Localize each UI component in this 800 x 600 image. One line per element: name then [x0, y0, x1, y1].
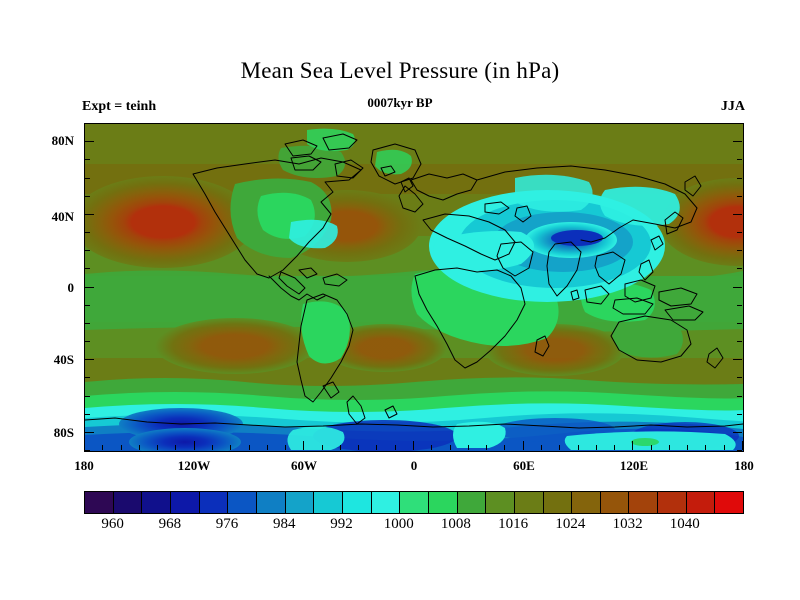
y-tick	[737, 377, 742, 378]
y-tick	[737, 232, 742, 233]
y-tick	[737, 396, 742, 397]
x-tick	[651, 445, 652, 450]
y-tick	[85, 250, 90, 251]
y-tick	[733, 432, 742, 433]
colorbar-tick-label: 968	[140, 516, 200, 533]
x-tick	[157, 445, 158, 450]
x-tick	[303, 441, 304, 450]
colorbar-swatch	[515, 492, 544, 513]
colorbar-tick-label: 1024	[540, 516, 600, 533]
experiment-label: Expt = teinh	[82, 99, 156, 115]
x-tick	[596, 445, 597, 450]
x-tick	[194, 441, 195, 450]
y-tick	[85, 396, 90, 397]
x-tick	[578, 445, 579, 450]
colorbar-tick-label: 984	[254, 516, 314, 533]
y-tick	[85, 196, 90, 197]
y-tick	[85, 178, 90, 179]
colorbar-tick-label: 1040	[655, 516, 715, 533]
x-tick	[121, 445, 122, 450]
y-tick	[733, 214, 742, 215]
x-tick	[523, 441, 524, 450]
colorbar-tick-label: 960	[83, 516, 143, 533]
y-tick	[85, 214, 94, 215]
x-tick	[468, 445, 469, 450]
colorbar-tick-label: 1008	[426, 516, 486, 533]
x-tick	[413, 441, 414, 450]
colorbar-swatch	[658, 492, 687, 513]
figure-canvas: Mean Sea Level Pressure (in hPa) 0007kyr…	[0, 0, 800, 600]
colorbar-swatch	[142, 492, 171, 513]
x-tick	[450, 445, 451, 450]
y-tick	[737, 268, 742, 269]
x-tick-label-180w: 180	[49, 458, 119, 474]
y-tick	[737, 250, 742, 251]
colorbar-swatch	[458, 492, 487, 513]
x-tick	[669, 445, 670, 450]
y-tick	[733, 141, 742, 142]
colorbar-swatch	[544, 492, 573, 513]
y-tick	[85, 432, 94, 433]
y-tick	[737, 341, 742, 342]
y-tick	[85, 359, 94, 360]
x-tick-label-120e: 120E	[599, 458, 669, 474]
colorbar-swatch	[372, 492, 401, 513]
y-tick-label-40n: 40N	[28, 209, 74, 225]
x-tick-label-0: 0	[379, 458, 449, 474]
y-tick	[737, 414, 742, 415]
y-tick	[737, 159, 742, 160]
colorbar-swatch	[629, 492, 658, 513]
colorbar-swatch	[200, 492, 229, 513]
y-tick	[85, 323, 90, 324]
y-tick	[737, 305, 742, 306]
colorbar-swatch	[572, 492, 601, 513]
x-tick-label-60e: 60E	[489, 458, 559, 474]
x-tick	[249, 445, 250, 450]
y-tick-label-0: 0	[28, 280, 74, 296]
x-tick	[139, 445, 140, 450]
x-tick	[175, 445, 176, 450]
x-tick	[504, 445, 505, 450]
x-tick	[705, 445, 706, 450]
colorbar-swatch	[314, 492, 343, 513]
colorbar-swatch	[715, 492, 743, 513]
mslp-contour-map	[85, 124, 743, 451]
y-tick-label-80n: 80N	[28, 133, 74, 149]
colorbar-swatch	[601, 492, 630, 513]
x-tick-label-180e: 180	[709, 458, 779, 474]
colorbar-swatch	[257, 492, 286, 513]
x-tick	[102, 445, 103, 450]
y-tick	[85, 414, 90, 415]
y-tick	[737, 450, 742, 451]
x-tick	[212, 445, 213, 450]
y-tick	[85, 141, 94, 142]
x-tick	[358, 445, 359, 450]
y-tick	[85, 341, 90, 342]
y-tick-label-80s: 80S	[28, 425, 74, 441]
y-tick	[85, 305, 90, 306]
y-tick	[733, 359, 742, 360]
x-tick	[632, 441, 633, 450]
x-tick	[285, 445, 286, 450]
x-tick	[376, 445, 377, 450]
season-label: JJA	[721, 99, 745, 115]
y-tick	[737, 323, 742, 324]
y-tick	[737, 123, 742, 124]
colorbar-swatch	[429, 492, 458, 513]
colorbar-swatch	[228, 492, 257, 513]
x-tick	[541, 445, 542, 450]
colorbar-swatch	[171, 492, 200, 513]
y-tick	[733, 287, 742, 288]
y-tick	[85, 268, 90, 269]
colorbar-swatch	[85, 492, 114, 513]
colorbar-tick-label: 976	[197, 516, 257, 533]
colorbar-swatch	[114, 492, 143, 513]
x-tick	[230, 445, 231, 450]
colorbar-tick-label: 1000	[369, 516, 429, 533]
y-tick	[85, 159, 90, 160]
y-tick	[85, 287, 94, 288]
x-tick	[395, 445, 396, 450]
colorbar-swatch	[286, 492, 315, 513]
x-tick	[84, 441, 85, 450]
x-tick	[724, 445, 725, 450]
colorbar-swatch	[486, 492, 515, 513]
x-tick	[559, 445, 560, 450]
x-tick	[687, 445, 688, 450]
y-tick-label-40s: 40S	[28, 352, 74, 368]
x-tick	[486, 445, 487, 450]
x-tick-label-60w: 60W	[269, 458, 339, 474]
x-tick	[614, 445, 615, 450]
colorbar	[84, 491, 744, 514]
colorbar-swatch	[343, 492, 372, 513]
x-tick	[267, 445, 268, 450]
y-tick	[85, 377, 90, 378]
y-tick	[85, 232, 90, 233]
map-plot-area	[84, 123, 744, 452]
colorbar-swatch	[400, 492, 429, 513]
colorbar-tick-label: 992	[311, 516, 371, 533]
colorbar-swatch	[687, 492, 716, 513]
y-tick	[737, 178, 742, 179]
x-tick	[340, 445, 341, 450]
y-tick	[85, 450, 90, 451]
x-tick	[742, 441, 743, 450]
page-title: Mean Sea Level Pressure (in hPa)	[0, 58, 800, 84]
x-tick	[431, 445, 432, 450]
y-tick	[85, 123, 90, 124]
x-tick	[322, 445, 323, 450]
colorbar-tick-label: 1032	[598, 516, 658, 533]
y-tick	[737, 196, 742, 197]
colorbar-tick-label: 1016	[483, 516, 543, 533]
x-tick-label-120w: 120W	[159, 458, 229, 474]
